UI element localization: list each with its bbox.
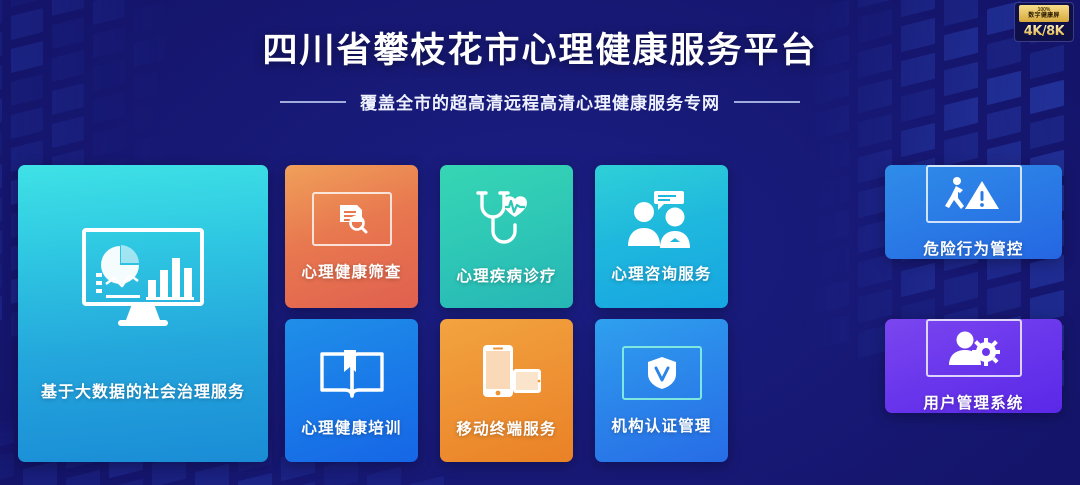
- icon-frame: [926, 165, 1022, 223]
- tile-mental-health-training[interactable]: 心理健康培训: [285, 319, 418, 462]
- open-book-icon: [317, 344, 387, 402]
- badge-mid-text: 数字健康屏: [1028, 13, 1060, 19]
- tile-mental-health-screening[interactable]: 心理健康筛查: [285, 165, 418, 308]
- badge-resolution-text: 4K/8K: [1024, 24, 1065, 39]
- tile-label: 移动终端服务: [456, 417, 556, 439]
- tile-label: 心理疾病诊疗: [456, 264, 556, 286]
- document-search-icon-frame: [312, 192, 392, 246]
- header: 四川省攀枝花市心理健康服务平台 覆盖全市的超高清远程高清心理健康服务专网: [0, 0, 1080, 114]
- tile-label: 心理健康培训: [301, 416, 401, 438]
- document-search-icon: [335, 202, 369, 236]
- tile-user-management-system[interactable]: 用户管理系统: [885, 319, 1062, 413]
- shield-verified-icon-frame: [622, 346, 702, 400]
- tile-risk-behavior-control[interactable]: 危险行为管控: [885, 165, 1062, 259]
- tile-label: 基于大数据的社会治理服务: [41, 378, 245, 402]
- user-settings-icon-frame: [926, 319, 1022, 377]
- shield-verified-icon: [647, 356, 677, 390]
- dashboard-monitor-icon: [80, 226, 206, 330]
- icon-frame: [622, 346, 702, 400]
- two-people-chat-icon: [624, 190, 700, 248]
- tile-label: 心理健康筛查: [301, 260, 401, 282]
- stethoscope-heart-icon: [472, 188, 542, 250]
- badge-gold-plate: 100% 数字健康屏: [1019, 5, 1069, 22]
- page-subtitle: 覆盖全市的超高清远程高清心理健康服务专网: [360, 89, 720, 114]
- tile-label: 心理咨询服务: [611, 262, 711, 284]
- tile-big-data-governance[interactable]: 基于大数据的社会治理服务: [18, 165, 268, 462]
- person-warning-icon-frame: [926, 165, 1022, 223]
- tile-mental-illness-diagnosis[interactable]: 心理疾病诊疗: [440, 165, 573, 308]
- tile-label: 危险行为管控: [923, 237, 1023, 259]
- user-settings-icon: [945, 330, 1003, 366]
- tile-mobile-terminal-service[interactable]: 移动终端服务: [440, 319, 573, 462]
- phone-tablet-icon: [471, 343, 543, 403]
- icon-frame: [926, 319, 1022, 377]
- subtitle-rule-right: [734, 101, 800, 103]
- quality-badge: 100% 数字健康屏 4K/8K: [1014, 2, 1074, 42]
- module-grid: 基于大数据的社会治理服务 心理健康筛查: [18, 165, 1062, 462]
- tile-counseling-service[interactable]: 心理咨询服务: [595, 165, 728, 308]
- subtitle-rule-left: [280, 101, 346, 103]
- subtitle-row: 覆盖全市的超高清远程高清心理健康服务专网: [0, 89, 1080, 114]
- platform-poster: 100% 数字健康屏 4K/8K 四川省攀枝花市心理健康服务平台 覆盖全市的超高…: [0, 0, 1080, 485]
- page-title: 四川省攀枝花市心理健康服务平台: [0, 22, 1080, 73]
- tile-label: 用户管理系统: [923, 391, 1023, 413]
- person-warning-icon: [944, 176, 1004, 212]
- icon-frame: [312, 192, 392, 246]
- tile-label: 机构认证管理: [611, 414, 711, 436]
- tile-organization-certification[interactable]: 机构认证管理: [595, 319, 728, 462]
